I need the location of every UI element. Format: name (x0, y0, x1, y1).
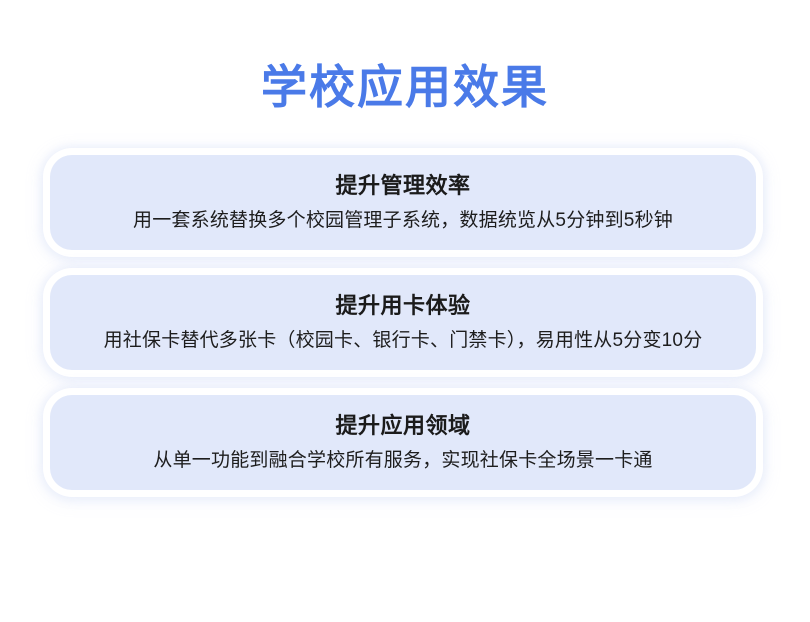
benefit-card-heading: 提升应用领域 (335, 411, 470, 441)
benefit-card-body: 从单一功能到融合学校所有服务，实现社保卡全场景一卡通 (153, 447, 652, 474)
benefit-card-body: 用一套系统替换多个校园管理子系统，数据统览从5分钟到5秒钟 (133, 207, 673, 234)
slide-root: 学校应用效果 提升管理效率 用一套系统替换多个校园管理子系统，数据统览从5分钟到… (0, 0, 810, 622)
benefit-card-heading: 提升管理效率 (335, 171, 470, 201)
benefit-card-body: 用社保卡替代多张卡（校园卡、银行卡、门禁卡），易用性从5分变10分 (104, 327, 703, 354)
page-title: 学校应用效果 (0, 58, 810, 116)
benefit-card-heading: 提升用卡体验 (335, 291, 470, 321)
benefit-card: 提升应用领域 从单一功能到融合学校所有服务，实现社保卡全场景一卡通 (50, 395, 756, 490)
benefit-card-list: 提升管理效率 用一套系统替换多个校园管理子系统，数据统览从5分钟到5秒钟 提升用… (50, 155, 760, 490)
benefit-card: 提升管理效率 用一套系统替换多个校园管理子系统，数据统览从5分钟到5秒钟 (50, 155, 756, 250)
benefit-card: 提升用卡体验 用社保卡替代多张卡（校园卡、银行卡、门禁卡），易用性从5分变10分 (50, 275, 756, 370)
